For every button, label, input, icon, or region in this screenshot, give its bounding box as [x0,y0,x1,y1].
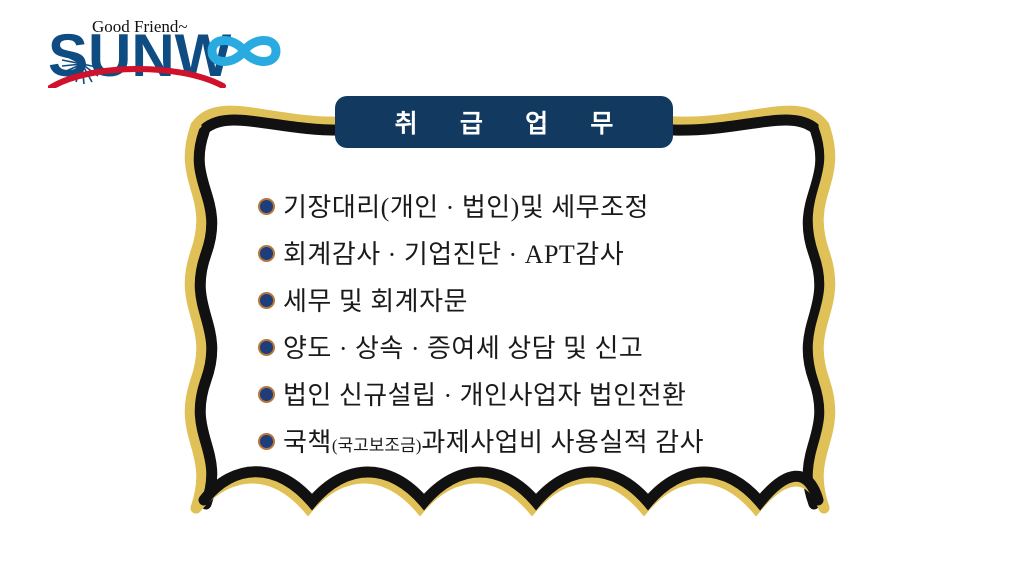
bullet-icon [258,245,275,262]
service-label: 기장대리(개인 · 법인)및 세무조정 [283,187,649,224]
bullet-icon [258,198,275,215]
bullet-icon [258,339,275,356]
service-label: 회계감사 · 기업진단 · APT감사 [283,234,624,271]
list-item: 양도 · 상속 · 증여세 상담 및 신고 [258,323,818,370]
title-banner: 취 급 업 무 [335,96,673,148]
logo-graphic: Good Friend~ SUNW [48,10,318,88]
service-label-tail: 과제사업비 사용실적 감사 [421,428,704,457]
list-item: 회계감사 · 기업진단 · APT감사 [258,229,818,276]
service-label: 법인 신규설립 · 개인사업자 법인전환 [283,375,686,412]
bullet-icon [258,292,275,309]
service-label: 양도 · 상속 · 증여세 상담 및 신고 [283,328,643,365]
list-item: 국책(국고보조금)과제사업비 사용실적 감사 [258,417,818,464]
list-item: 세무 및 회계자문 [258,276,818,323]
frame-left-edge [190,126,212,508]
bullet-icon [258,433,275,450]
service-label-main: 국책 [283,428,332,457]
page-title: 취 급 업 무 [377,104,632,140]
list-item: 기장대리(개인 · 법인)및 세무조정 [258,182,818,229]
services-list: 기장대리(개인 · 법인)및 세무조정 회계감사 · 기업진단 · APT감사 … [258,182,818,464]
service-label: 국책(국고보조금)과제사업비 사용실적 감사 [283,422,704,459]
service-label-annotation: (국고보조금) [332,436,422,455]
bullet-icon [258,386,275,403]
company-logo: Good Friend~ SUNW [48,10,318,88]
frame-bottom-edge [196,472,824,508]
list-item: 법인 신규설립 · 개인사업자 법인전환 [258,370,818,417]
service-label: 세무 및 회계자문 [283,281,468,318]
